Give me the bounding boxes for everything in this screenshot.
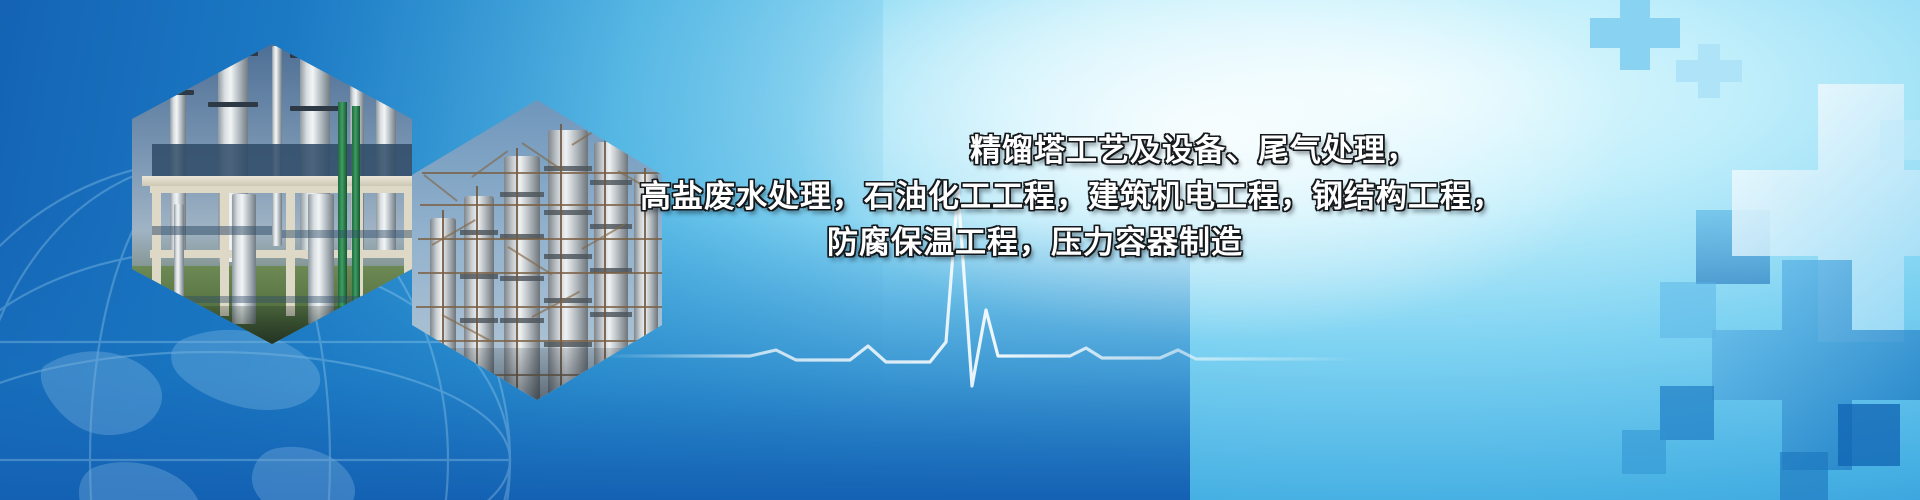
hero-banner: 精馏塔工艺及设备、尾气处理， 高盐废水处理，石油化工工程，建筑机电工程，钢结构工… xyxy=(0,0,1920,500)
headline-block: 精馏塔工艺及设备、尾气处理， 高盐废水处理，石油化工工程，建筑机电工程，钢结构工… xyxy=(640,128,1430,266)
headline-line-1: 精馏塔工艺及设备、尾气处理， xyxy=(640,128,1430,174)
headline-line-2: 高盐废水处理，石油化工工程，建筑机电工程，钢结构工程， xyxy=(640,174,1430,220)
headline-line-3: 防腐保温工程，压力容器制造 xyxy=(640,220,1430,266)
plus-cross-cluster xyxy=(1360,0,1920,500)
